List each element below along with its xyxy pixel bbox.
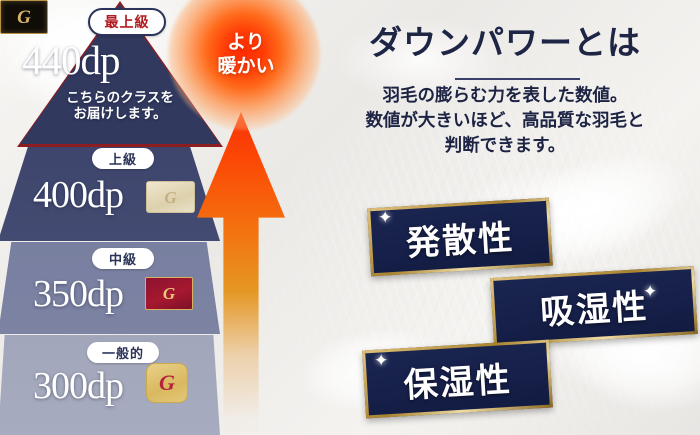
crest-icon-350dp: G [145,277,193,310]
title-divider [455,78,580,80]
value-400dp: 400dp [33,173,123,217]
rank-badge-300dp: 一般的 [87,342,159,363]
feature-label: 吸湿性 [539,278,650,333]
value-350dp: 350dp [33,272,123,316]
crest-icon-400dp: G [146,181,195,213]
warmth-label: より 暖かい [196,30,296,79]
rank-badge-440dp: 最上級 [88,8,166,36]
feature-label: 発散性 [405,209,516,264]
delivery-note: こちらのクラスを お届けします。 [50,90,190,123]
feature-label: 保湿性 [402,351,513,406]
page-title: ダウンパワーとは [330,16,680,64]
feature-plate-2: 吸湿性 [490,266,698,346]
value-300dp: 300dp [33,364,123,408]
value-440dp: 440dp [22,36,120,84]
feature-plate-3: 保湿性 [362,340,553,419]
rank-badge-400dp: 上級 [92,148,154,169]
crest-icon-300dp: G [146,363,188,403]
feature-plate-1: 発散性 [367,198,553,277]
infographic-canvas: 最上級 440dp G こちらのクラスを お届けします。 上級 400dp G … [0,0,700,435]
crest-icon-440dp: G [0,0,48,34]
description-text: 羽毛の膨らむ力を表した数値。 数値が大きいほど、高品質な羽毛と 判断できます。 [310,84,700,159]
rank-badge-350dp: 中級 [92,248,154,269]
